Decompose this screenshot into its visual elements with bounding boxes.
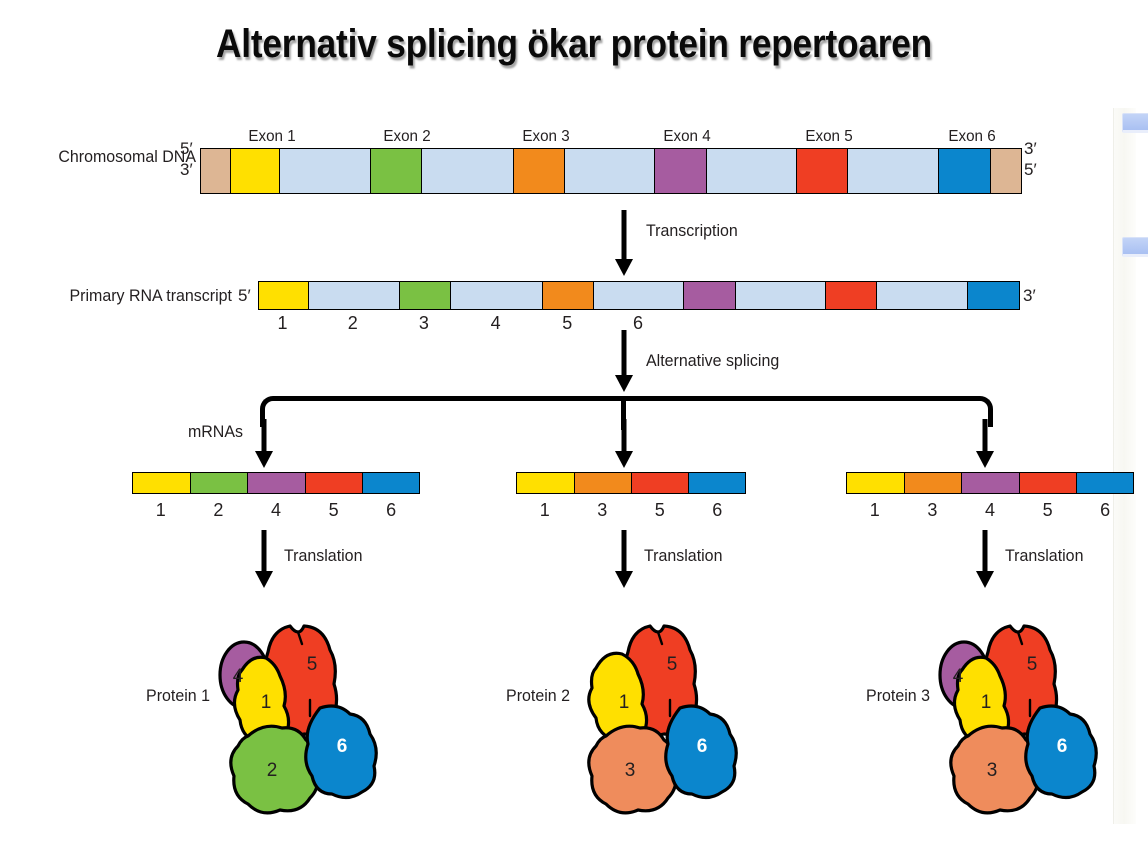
- exon-caption-3: Exon 3: [504, 128, 588, 146]
- rna-segment-5: [542, 282, 593, 309]
- exon-caption-5: Exon 5: [787, 128, 871, 146]
- mrna-1-segment-2: [190, 473, 247, 493]
- rna-bar-number-3: 3: [404, 313, 444, 334]
- dna-segment-10: [796, 149, 847, 193]
- translation-arrow-2: [613, 530, 635, 588]
- primary-rna-bar: [258, 281, 1020, 310]
- rna-segment-11: [967, 282, 1019, 309]
- protein-2-subunit-6-number: 6: [697, 736, 708, 757]
- rna-segment-2: [308, 282, 399, 309]
- dna-5prime-bottom: 5′: [1024, 160, 1037, 180]
- mrna-bar-2-number-6: 6: [697, 500, 737, 521]
- chromosomal-dna-bar: [200, 148, 1022, 194]
- scroll-marker-top[interactable]: [1122, 113, 1148, 133]
- mrna-2-segment-4: [688, 473, 745, 493]
- mrna-bar-1-number-1: 1: [141, 500, 181, 521]
- mrna-3-segment-5: [1076, 473, 1133, 493]
- exon-caption-1: Exon 1: [230, 128, 314, 146]
- protein-1-subunit-4-number: 4: [233, 666, 244, 687]
- mrna-3-segment-1: [847, 473, 904, 493]
- mrna-bar-3-number-4: 4: [970, 500, 1010, 521]
- rna-3prime: 3′: [1023, 286, 1036, 306]
- mrnas-label: mRNAs: [188, 422, 243, 442]
- protein-1-complex: 4 5 1 2 6: [206, 608, 436, 833]
- exon-caption-4: Exon 4: [645, 128, 729, 146]
- dna-segment-11: [847, 149, 938, 193]
- dna-5prime-top: 5′: [180, 139, 193, 159]
- mrna-bar-1-number-5: 5: [314, 500, 354, 521]
- protein-2-subunit-5-number: 5: [667, 654, 678, 675]
- rna-bar-number-2: 2: [333, 313, 373, 334]
- mrna-bar-1: [132, 472, 420, 494]
- transcription-arrow: [613, 210, 635, 276]
- dna-segment-2: [230, 149, 279, 193]
- exon-caption-2: Exon 2: [365, 128, 449, 146]
- primary-rna-label: Primary RNA transcript: [69, 286, 232, 306]
- rna-bar-number-5: 5: [547, 313, 587, 334]
- dna-segment-9: [706, 149, 796, 193]
- translation-label-2: Translation: [644, 546, 722, 566]
- protein-1-label: Protein 1: [146, 686, 210, 706]
- mrna-bar-3-number-6: 6: [1085, 500, 1125, 521]
- rna-segment-8: [735, 282, 825, 309]
- mrna-2-arrow: [613, 419, 635, 467]
- translation-label-3: Translation: [1005, 546, 1083, 566]
- protein-1-subunit-2-number: 2: [267, 760, 278, 781]
- dna-segment-4: [370, 149, 421, 193]
- chromosomal-dna-label: Chromosomal DNA: [58, 147, 196, 167]
- mrna-1-segment-5: [362, 473, 419, 493]
- protein-3-subunit-3-number: 3: [987, 760, 998, 781]
- dna-segment-3: [279, 149, 370, 193]
- mrna-bar-3: [846, 472, 1134, 494]
- protein-3-subunit-5-number: 5: [1027, 654, 1038, 675]
- rna-segment-4: [450, 282, 542, 309]
- mrna-1-segment-1: [133, 473, 190, 493]
- rna-segment-1: [259, 282, 308, 309]
- dna-segment-1: [201, 149, 230, 193]
- mrna-bar-2-number-5: 5: [640, 500, 680, 521]
- rna-segment-6: [593, 282, 683, 309]
- mrna-3-segment-4: [1019, 473, 1076, 493]
- protein-2-subunit-3-number: 3: [625, 760, 636, 781]
- exon-caption-6: Exon 6: [930, 128, 1014, 146]
- mrna-2-segment-3: [631, 473, 688, 493]
- protein-1-subunit-5-number: 5: [307, 654, 318, 675]
- dna-3prime-bottom: 3′: [180, 160, 193, 180]
- protein-2-subunit-1-number: 1: [619, 692, 630, 713]
- rna-bar-number-4: 4: [476, 313, 516, 334]
- mrna-bar-3-number-5: 5: [1028, 500, 1068, 521]
- protein-1-subunit-1-number: 1: [261, 692, 272, 713]
- translation-label-1: Translation: [284, 546, 362, 566]
- translation-arrow-3: [974, 530, 996, 588]
- dna-segment-5: [421, 149, 513, 193]
- rna-5prime: 5′: [238, 286, 251, 306]
- rna-segment-7: [683, 282, 735, 309]
- mrna-bar-3-number-1: 1: [855, 500, 895, 521]
- mrna-bar-2-number-1: 1: [525, 500, 565, 521]
- mrna-1-segment-3: [247, 473, 304, 493]
- mrna-bar-2: [516, 472, 746, 494]
- dna-segment-12: [938, 149, 990, 193]
- mrna-2-segment-2: [574, 473, 631, 493]
- protein-3-subunit-6-number: 6: [1057, 736, 1068, 757]
- translation-arrow-1: [253, 530, 275, 588]
- protein-3-subunit-1-number: 1: [981, 692, 992, 713]
- protein-2-complex: 5 1 3 6: [566, 608, 796, 833]
- slide-canvas: Alternativ splicing ökar protein reperto…: [0, 0, 1148, 848]
- dna-segment-13: [990, 149, 1021, 193]
- rna-bar-number-1: 1: [263, 313, 303, 334]
- alternative-splicing-label: Alternative splicing: [646, 351, 779, 371]
- alternative-splicing-arrow: [613, 330, 635, 392]
- dna-segment-8: [654, 149, 706, 193]
- protein-3-complex: 4 5 1 3 6: [926, 608, 1148, 833]
- mrna-3-segment-2: [904, 473, 961, 493]
- mrna-1-arrow: [253, 419, 275, 467]
- rna-segment-10: [876, 282, 967, 309]
- dna-segment-6: [513, 149, 564, 193]
- protein-1-subunit-6-number: 6: [337, 736, 348, 757]
- mrna-3-segment-3: [961, 473, 1018, 493]
- mrna-bar-1-number-6: 6: [371, 500, 411, 521]
- rna-bar-number-6: 6: [618, 313, 658, 334]
- mrna-1-segment-4: [305, 473, 362, 493]
- rna-segment-9: [825, 282, 876, 309]
- mrna-bar-2-number-3: 3: [582, 500, 622, 521]
- dna-segment-7: [564, 149, 654, 193]
- mrna-bar-3-number-3: 3: [912, 500, 952, 521]
- protein-2-label: Protein 2: [506, 686, 570, 706]
- mrna-bar-1-number-4: 4: [256, 500, 296, 521]
- page-title: Alternativ splicing ökar protein reperto…: [69, 22, 1079, 67]
- protein-3-label: Protein 3: [866, 686, 930, 706]
- rna-segment-3: [399, 282, 450, 309]
- scroll-marker-lower[interactable]: [1122, 237, 1148, 257]
- dna-3prime-top: 3′: [1024, 139, 1037, 159]
- mrna-3-arrow: [974, 419, 996, 467]
- protein-3-subunit-4-number: 4: [953, 666, 964, 687]
- mrna-2-segment-1: [517, 473, 574, 493]
- mrna-bar-1-number-2: 2: [198, 500, 238, 521]
- transcription-label: Transcription: [646, 221, 738, 241]
